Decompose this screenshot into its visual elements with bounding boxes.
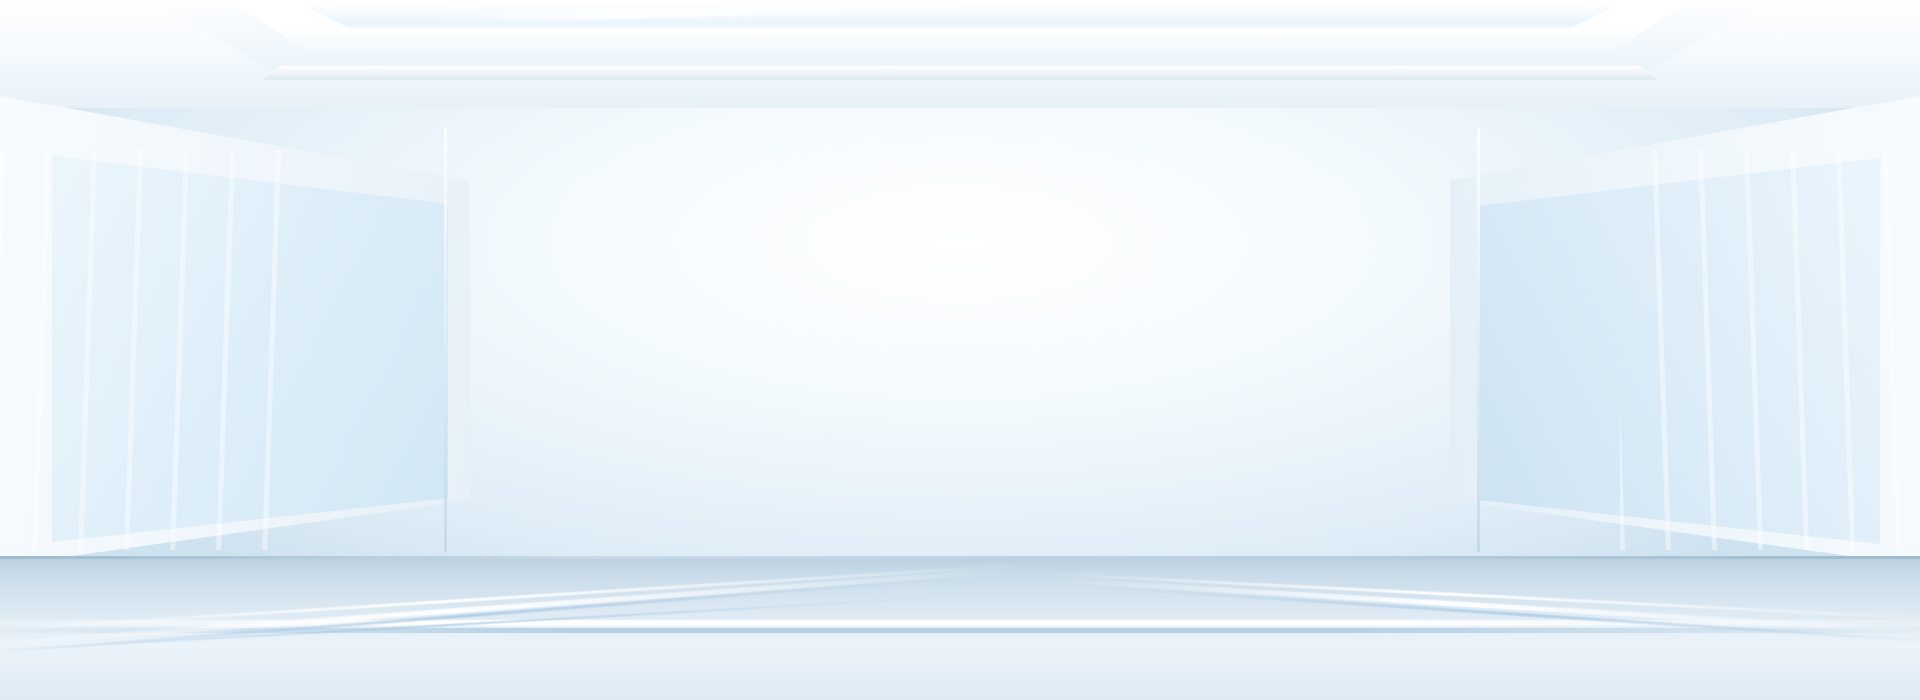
certificate-gallery <box>0 0 1920 700</box>
banner-heading <box>0 0 1920 100</box>
